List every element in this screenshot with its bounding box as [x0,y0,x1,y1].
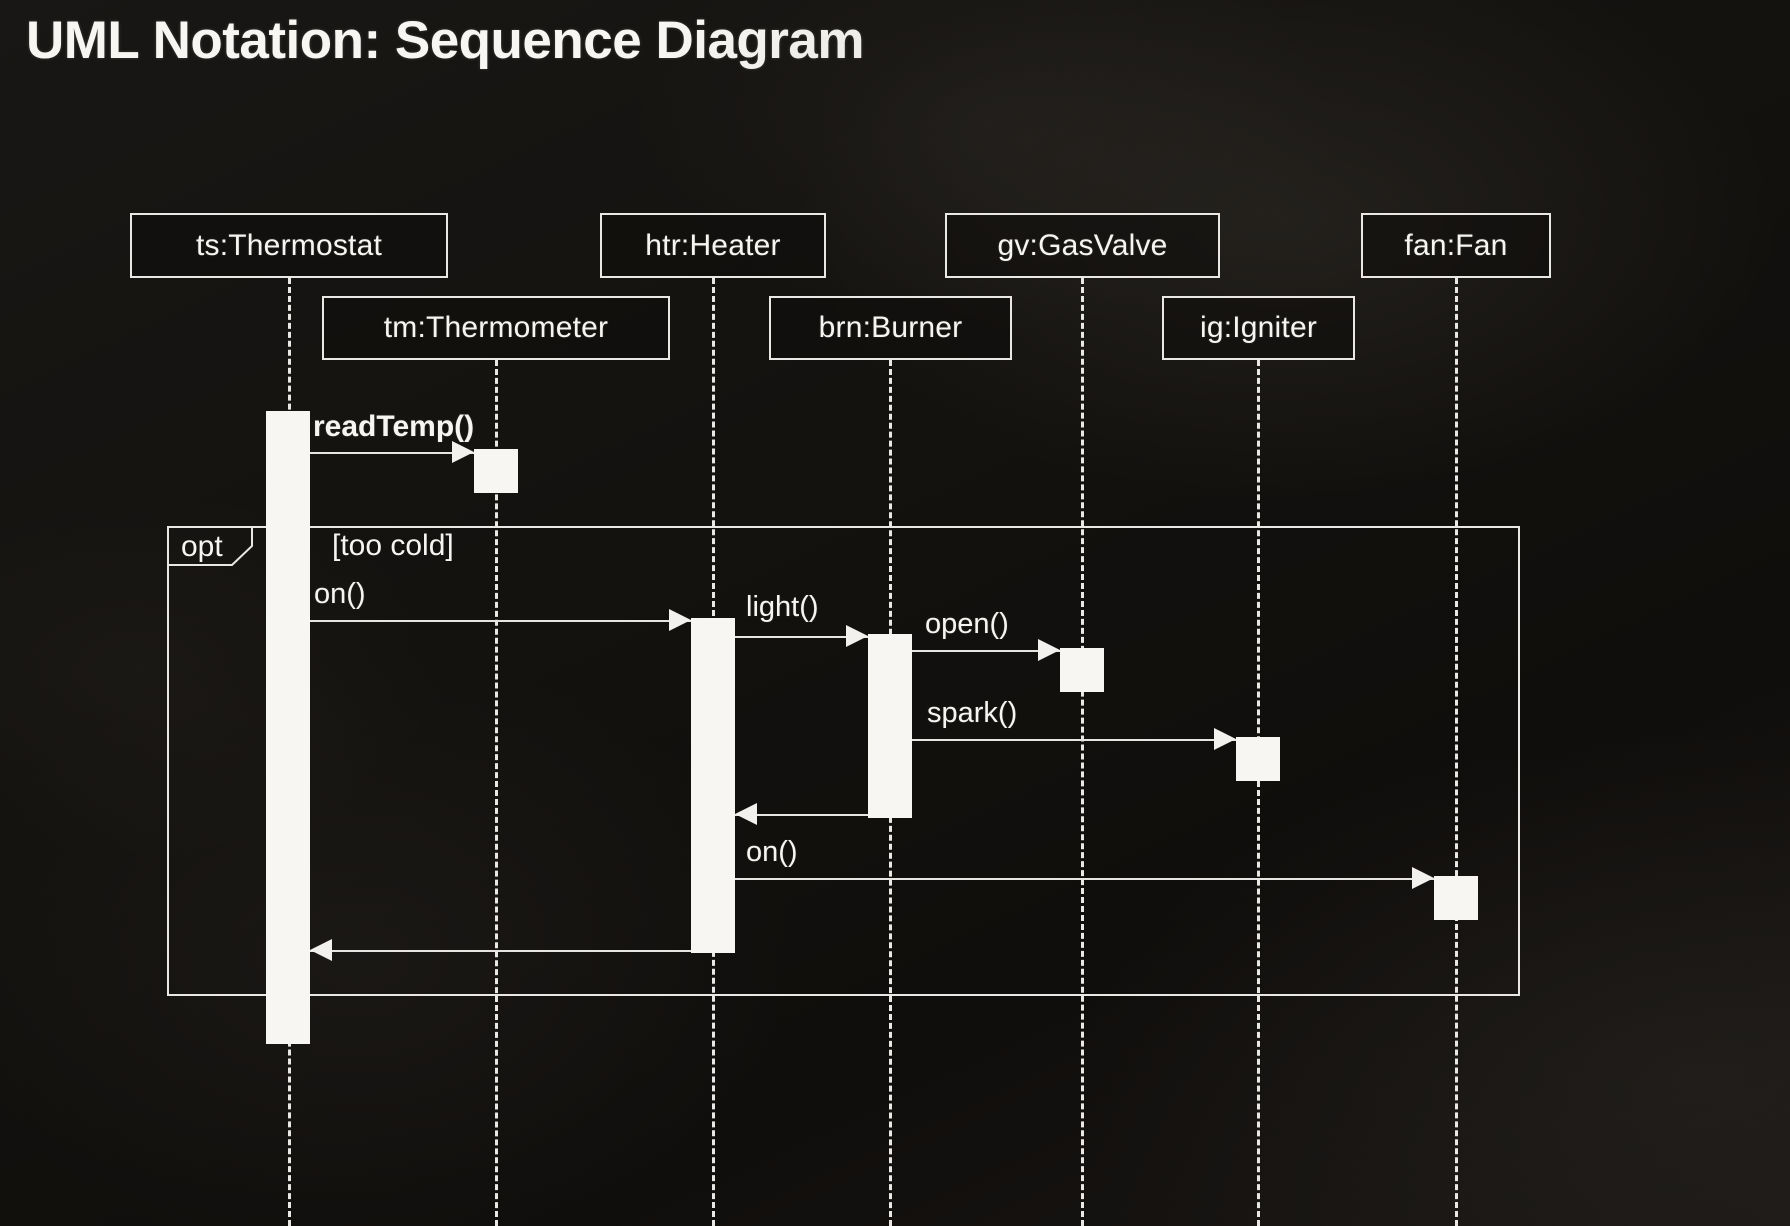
arrowhead-on-fan [1412,867,1434,889]
fragment-guard-label: [too cold] [332,529,454,563]
activation-tm[interactable] [474,449,518,493]
arrowhead-on-heater [669,609,691,631]
fragment-operator-label: opt [181,530,223,564]
fragment-operator-tab: opt [167,526,253,566]
message-line-readtemp[interactable] [310,452,474,454]
slide-canvas: UML Notation: Sequence Diagram ts:Thermo… [0,0,1790,1226]
activation-htr[interactable] [691,618,735,953]
message-label-on-fan: on() [746,836,798,869]
sequence-diagram: ts:Thermostat tm:Thermometer htr:Heater … [0,0,1790,1226]
activation-brn[interactable] [868,634,912,818]
message-line-on-fan[interactable] [735,878,1434,880]
message-label-light: light() [746,591,819,624]
arrowhead-spark [1214,728,1236,750]
combined-fragment-opt [167,526,1520,996]
message-label-open: open() [925,608,1009,641]
arrowhead-readtemp [452,441,474,463]
participant-box-tm[interactable]: tm:Thermometer [322,296,670,360]
message-label-on-heater: on() [314,578,366,611]
activation-gv[interactable] [1060,648,1104,692]
arrowhead-return-heater [310,939,332,961]
message-line-spark[interactable] [912,739,1236,741]
activation-fan[interactable] [1434,876,1478,920]
participant-box-ig[interactable]: ig:Igniter [1162,296,1355,360]
participant-box-brn[interactable]: brn:Burner [769,296,1012,360]
arrowhead-light [846,625,868,647]
participant-box-fan[interactable]: fan:Fan [1361,213,1551,278]
participant-box-ts[interactable]: ts:Thermostat [130,213,448,278]
message-line-return-heater[interactable] [310,950,691,952]
arrowhead-return-burner [735,803,757,825]
activation-ts[interactable] [266,411,310,1044]
message-label-readtemp: readTemp() [313,410,474,444]
message-line-on-heater[interactable] [310,620,691,622]
participant-box-htr[interactable]: htr:Heater [600,213,826,278]
activation-ig[interactable] [1236,737,1280,781]
arrowhead-open [1038,639,1060,661]
participant-box-gv[interactable]: gv:GasValve [945,213,1220,278]
message-label-spark: spark() [927,697,1017,730]
